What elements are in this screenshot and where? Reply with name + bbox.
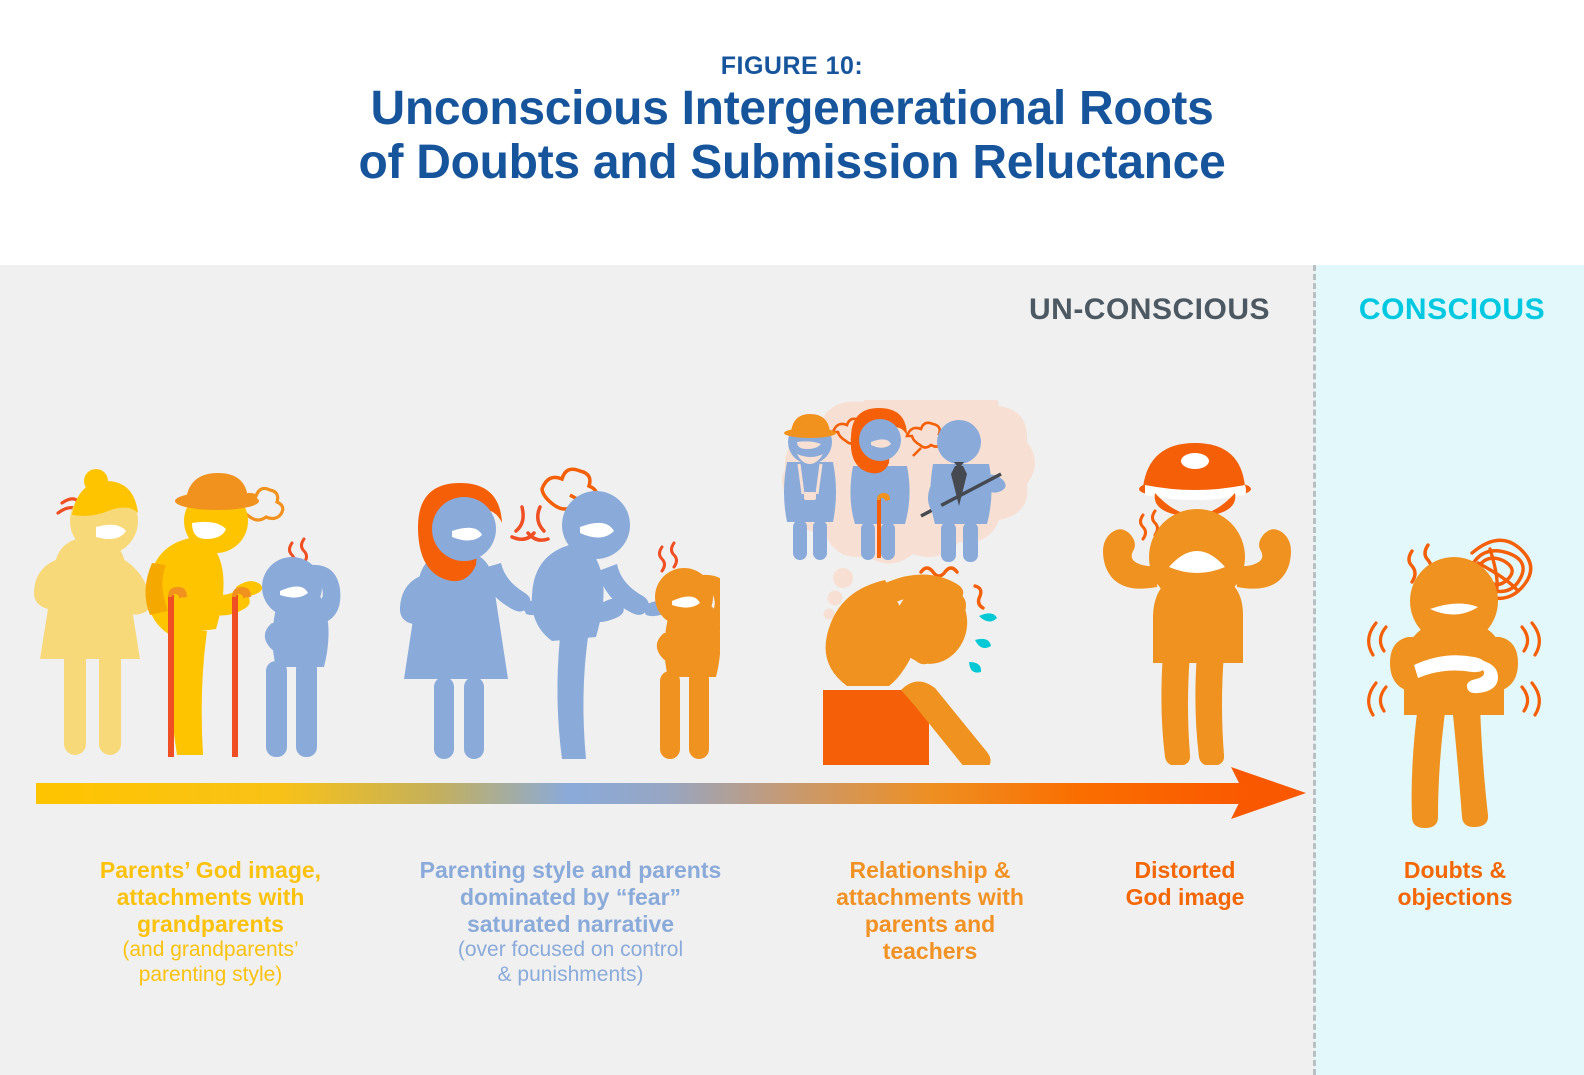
stage-1-caption-sub: (and grandparents’ parenting style): [28, 938, 393, 988]
mother-blue-figure: [400, 483, 548, 759]
grandmother-yellow-figure: [34, 469, 151, 755]
title-line-1: Unconscious Intergenerational Roots: [0, 82, 1584, 136]
title-line-2: of Doubts and Submission Reluctance: [0, 136, 1584, 190]
conscious-label: CONSCIOUS: [1330, 293, 1574, 327]
stage-5-caption-bold: Doubts & objections: [1335, 857, 1575, 911]
unconscious-label: UN-CONSCIOUS: [860, 293, 1270, 327]
stage-3-caption: Relationship & attachments with parents …: [780, 857, 1080, 966]
figure-label: FIGURE 10:: [0, 52, 1584, 81]
stage-5-illustration: [1350, 505, 1570, 835]
crying-person-on-box: [823, 568, 997, 765]
stage-4-caption-bold: Distorted God image: [1065, 857, 1305, 911]
stage-1-caption: Parents’ God image, attachments with gra…: [28, 857, 393, 988]
page-title: Unconscious Intergenerational Roots of D…: [0, 82, 1584, 190]
sad-child-orange-figure: [655, 543, 720, 759]
stage-3-illustration: [725, 400, 1055, 765]
grandfather-gold-figure: [145, 473, 282, 757]
father-blue-figure: [532, 491, 669, 759]
stage-2-caption-sub: (over focused on control & punishments): [378, 938, 763, 988]
sad-child-blue-figure: [262, 539, 340, 757]
tear-drops-icon: [969, 613, 997, 672]
timeline-gradient-arrow: [36, 765, 1306, 821]
orange-person-arms-raised: [1103, 509, 1291, 765]
orange-person-arms-crossed: [1369, 557, 1540, 828]
stage-3-caption-bold: Relationship & attachments with parents …: [780, 857, 1080, 966]
stage-5-caption: Doubts & objections: [1335, 857, 1575, 911]
stage-1-caption-bold: Parents’ God image, attachments with gra…: [28, 857, 393, 938]
stage-2-illustration: [390, 465, 720, 765]
stage-4-illustration: [1075, 415, 1325, 765]
stress-squiggle-icon: [660, 543, 677, 571]
stage-4-caption: Distorted God image: [1065, 857, 1305, 911]
anger-star-icon: [512, 507, 548, 540]
title-block: FIGURE 10: Unconscious Intergenerational…: [0, 0, 1584, 265]
stage-2-caption: Parenting style and parents dominated by…: [378, 857, 763, 988]
floating-officer-cap-icon: [1139, 443, 1251, 517]
diagram-canvas: UN-CONSCIOUS CONSCIOUS: [0, 265, 1584, 1075]
stage-2-caption-bold: Parenting style and parents dominated by…: [378, 857, 763, 938]
stage-1-illustration: [20, 445, 350, 765]
